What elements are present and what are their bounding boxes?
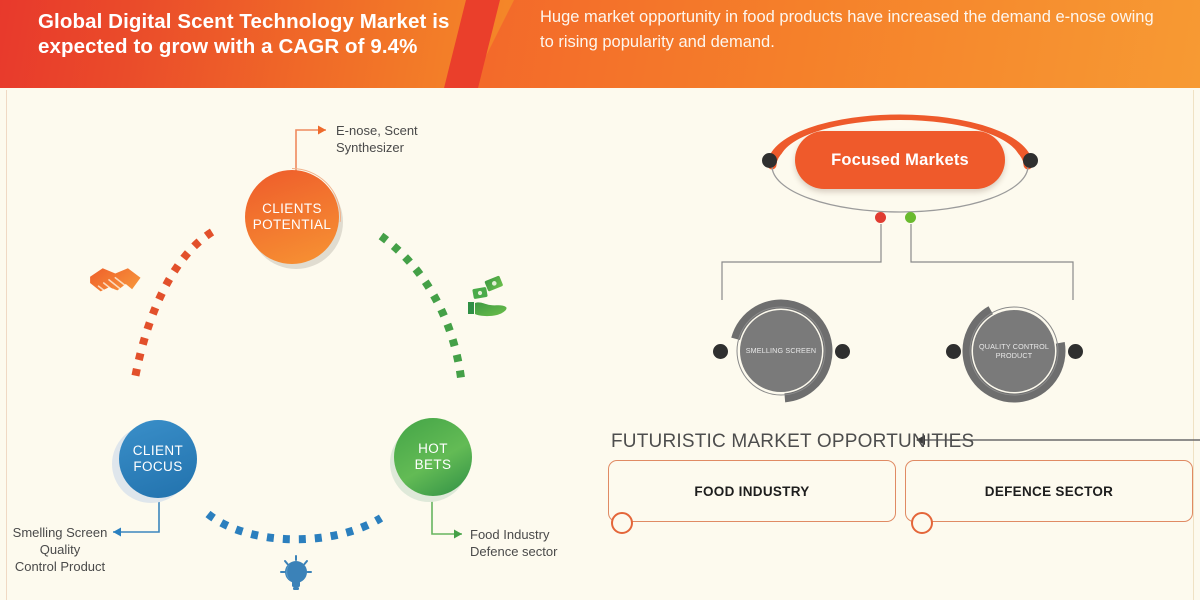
client-focus-label-line1: CLIENT xyxy=(133,443,183,459)
callout-hot-bets: Food Industry Defence sector xyxy=(470,526,620,560)
smelling-screen-right-dot xyxy=(835,344,850,359)
callout-client-focus-line3: Control Product xyxy=(8,558,112,575)
node-hot-bets[interactable]: HOT BETS xyxy=(394,418,472,496)
arc-green xyxy=(381,236,462,386)
hot-bets-label-line2: BETS xyxy=(415,457,452,473)
focused-markets-label: Focused Markets xyxy=(831,151,969,170)
frame-left-border xyxy=(6,90,7,600)
hot-bets-label-line1: HOT xyxy=(415,441,452,457)
arc-blue xyxy=(208,514,381,539)
callout-hot-bets-line1: Food Industry xyxy=(470,526,620,543)
box-defence-sector[interactable]: DEFENCE SECTOR xyxy=(905,460,1193,522)
callout-client-focus: Smelling Screen Quality Control Product xyxy=(8,524,112,575)
callout-client-focus-line1: Smelling Screen xyxy=(8,524,112,541)
futuristic-market-opportunities-title: FUTURISTIC MARKET OPPORTUNITIES xyxy=(611,431,974,453)
handshake-icon xyxy=(90,268,140,296)
circle-smelling-screen[interactable]: SMELLING SCREEN xyxy=(740,310,822,392)
quality-control-left-dot xyxy=(946,344,961,359)
smelling-screen-label-line1: SMELLING SCREEN xyxy=(746,346,817,356)
callout-clients-potential-line1: E-nose, Scent xyxy=(336,122,486,139)
food-industry-label: FOOD INDUSTRY xyxy=(694,484,809,499)
header-subtitle: Huge market opportunity in food products… xyxy=(540,5,1160,55)
callout-clients-potential-line2: Synthesizer xyxy=(336,139,486,156)
focused-markets-button[interactable]: Focused Markets xyxy=(795,131,1005,189)
header-underline xyxy=(0,88,1200,91)
header-banner: Global Digital Scent Technology Market i… xyxy=(0,0,1200,88)
defence-sector-nub xyxy=(911,512,933,534)
lightbulb-icon xyxy=(281,556,311,590)
leader-hot-bets xyxy=(432,495,462,539)
money-hand-icon xyxy=(468,275,507,316)
circle-quality-control-product[interactable]: QUALITY CONTROL PRODUCT xyxy=(973,310,1055,392)
box-food-industry[interactable]: FOOD INDUSTRY xyxy=(608,460,896,522)
quality-control-right-dot xyxy=(1068,344,1083,359)
callout-clients-potential: E-nose, Scent Synthesizer xyxy=(336,122,486,156)
connector-line-smelling xyxy=(722,224,881,300)
food-industry-nub xyxy=(611,512,633,534)
defence-sector-label: DEFENCE SECTOR xyxy=(985,484,1113,499)
leader-clients-potential xyxy=(296,126,326,173)
smelling-screen-left-dot xyxy=(713,344,728,359)
quality-control-label-line1: QUALITY CONTROL xyxy=(979,342,1049,352)
focused-markets-right-dot xyxy=(1023,153,1038,168)
arc-orange xyxy=(135,232,212,378)
connector-dot-red xyxy=(875,212,886,223)
page-title: Global Digital Scent Technology Market i… xyxy=(38,9,468,59)
client-focus-label-line2: FOCUS xyxy=(133,459,183,475)
quality-control-label-line2: PRODUCT xyxy=(979,351,1049,361)
infographic-canvas: Global Digital Scent Technology Market i… xyxy=(0,0,1200,600)
node-client-focus[interactable]: CLIENT FOCUS xyxy=(119,420,197,498)
callout-client-focus-line2: Quality xyxy=(8,541,112,558)
focused-markets-left-dot xyxy=(762,153,777,168)
frame-right-border xyxy=(1193,90,1194,600)
connector-dot-green xyxy=(905,212,916,223)
callout-hot-bets-line2: Defence sector xyxy=(470,543,620,560)
connector-line-quality xyxy=(911,224,1073,300)
